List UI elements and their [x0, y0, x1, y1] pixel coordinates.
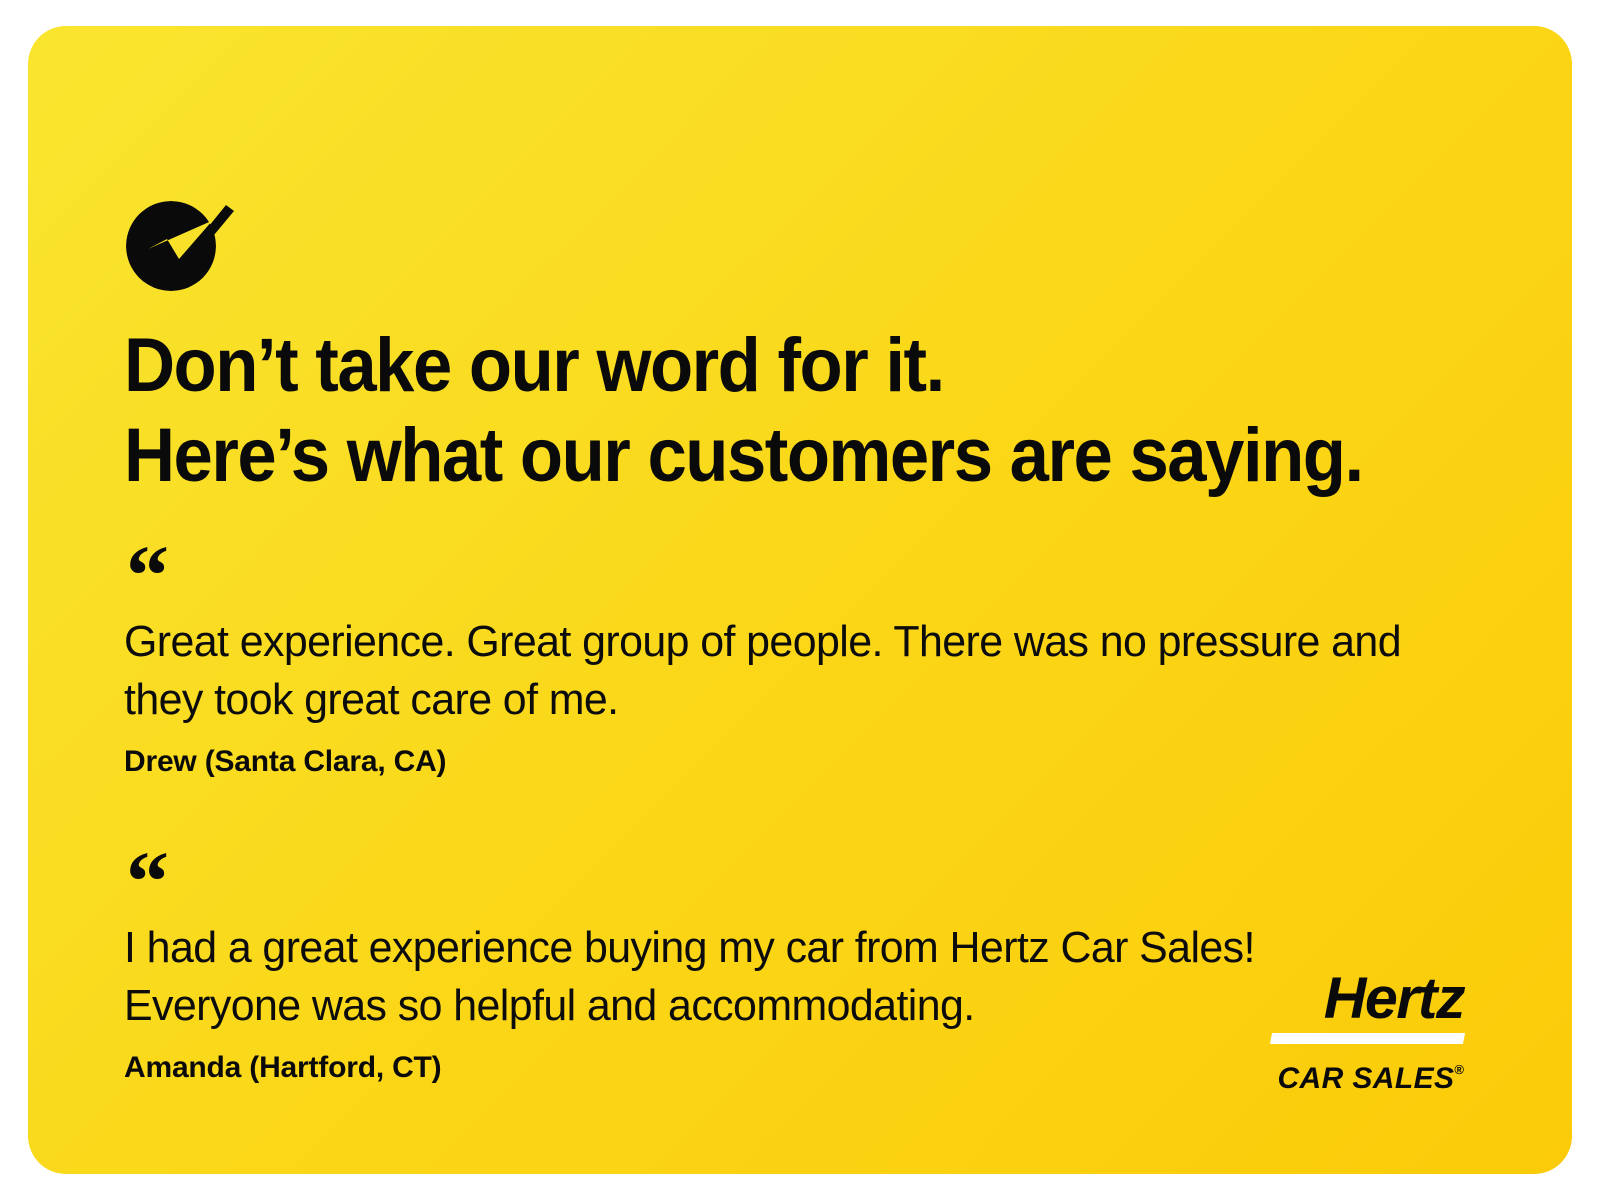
registered-trademark-icon: ® — [1454, 1062, 1464, 1077]
testimonial-quote: Great experience. Great group of people.… — [124, 613, 1421, 729]
headline-line-2: Here’s what our customers are saying. — [124, 411, 1389, 501]
quote-mark-icon: “ — [126, 531, 1504, 597]
page-title: Don’t take our word for it. Here’s what … — [124, 321, 1484, 501]
logo-wordmark: Hertz — [1245, 969, 1464, 1029]
testimonial-author: Drew (Santa Clara, CA) — [124, 743, 1504, 781]
hertz-car-sales-logo: Hertz CAR SALES® — [1249, 969, 1464, 1096]
quote-mark-icon: “ — [126, 837, 1504, 903]
screenshot-canvas: Don’t take our word for it. Here’s what … — [0, 0, 1600, 1200]
logo-subtitle: CAR SALES® — [1249, 1053, 1464, 1096]
testimonial-quote: I had a great experience buying my car f… — [124, 919, 1421, 1035]
logo-underline-bar — [1270, 1033, 1465, 1044]
check-circle-icon — [122, 191, 252, 301]
testimonial-item: “ Great experience. Great group of peopl… — [124, 531, 1504, 781]
testimonial-card: Don’t take our word for it. Here’s what … — [28, 26, 1572, 1174]
logo-subtitle-text: CAR SALES — [1277, 1062, 1454, 1095]
headline-line-1: Don’t take our word for it. — [124, 321, 1389, 411]
